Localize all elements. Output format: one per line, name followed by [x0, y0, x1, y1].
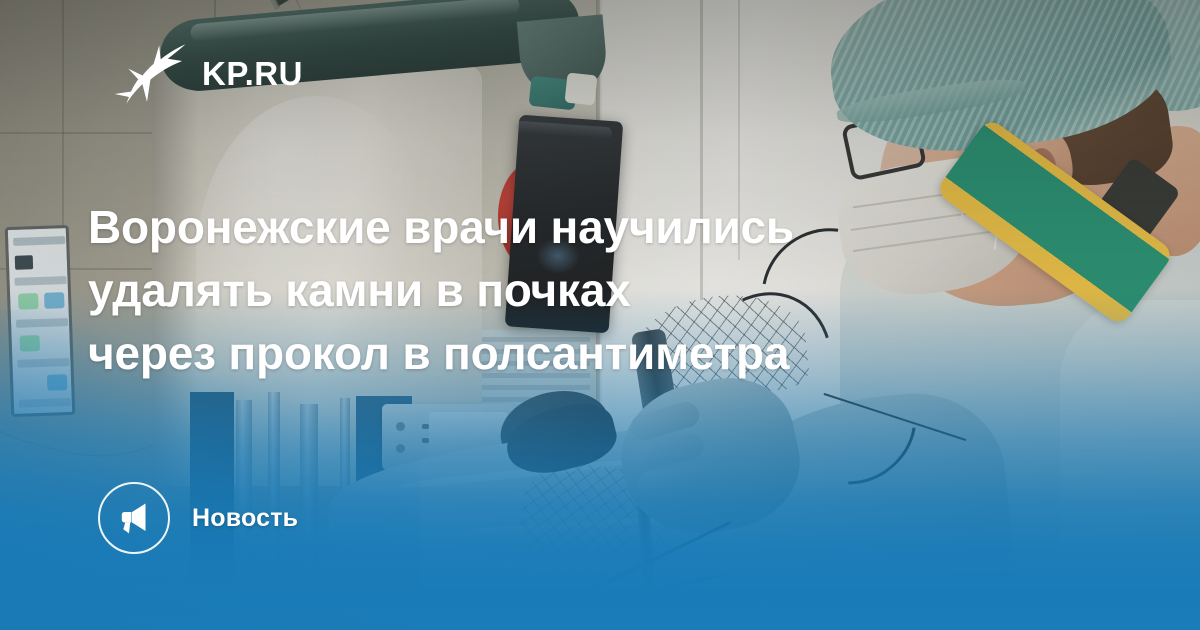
headline-line-3: через прокол в полсантиметра — [88, 322, 1098, 385]
status-badge[interactable]: Новость — [98, 482, 298, 554]
badge-icon-circle — [98, 482, 170, 554]
badge-label: Новость — [192, 504, 298, 533]
megaphone-icon — [116, 500, 152, 536]
brand-name: KP.RU — [202, 57, 303, 90]
headline-line-2: удалять камни в почках — [88, 259, 1098, 322]
kp-swallow-bird-icon — [112, 42, 186, 104]
brand-lockup[interactable]: KP.RU — [112, 42, 303, 104]
page-title: Воронежские врачи научились удалять камн… — [88, 196, 1098, 385]
card-content: KP.RU Воронежские врачи научились удалят… — [0, 0, 1200, 630]
social-share-card: KP.RU Воронежские врачи научились удалят… — [0, 0, 1200, 630]
headline-line-1: Воронежские врачи научились — [88, 196, 1098, 259]
